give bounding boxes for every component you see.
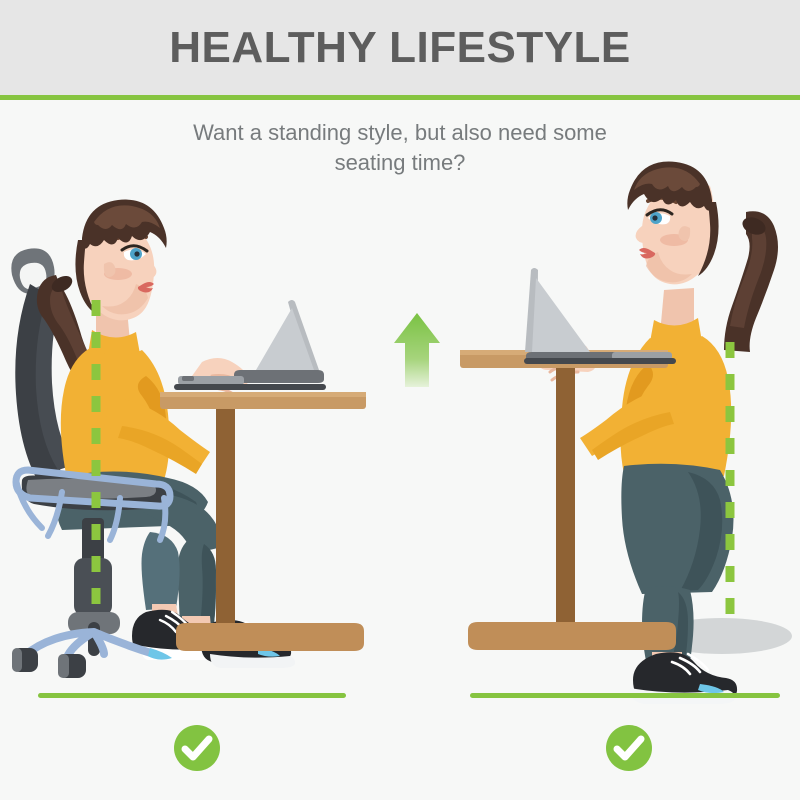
nose: [147, 262, 156, 279]
standing-desk: [460, 350, 680, 660]
seated-desk: [160, 380, 380, 660]
subtitle-line-2: seating time?: [335, 150, 466, 175]
right-panel-rule: [470, 693, 780, 698]
chair-caster-mid: [58, 654, 86, 678]
check-icon: [606, 725, 652, 771]
height-adjust-gauge: [360, 295, 450, 515]
desk-foot: [468, 622, 676, 650]
check-icon: [174, 725, 220, 771]
eye-pupil: [134, 251, 139, 256]
seated-laptop: [170, 298, 350, 398]
eye-pupil: [652, 215, 657, 220]
desk-leg: [556, 368, 575, 630]
nose: [636, 226, 645, 243]
subtitle-line-1: Want a standing style, but also need som…: [193, 120, 607, 145]
laptop-keyboard: [234, 370, 324, 383]
header-divider-rule: [0, 95, 800, 100]
chair-caster-left: [12, 648, 38, 672]
left-panel-rule: [38, 693, 346, 698]
left-panel-check-badge: [174, 725, 220, 771]
desk-leg: [216, 409, 235, 631]
ruler-ticks: [372, 299, 392, 497]
laptop-base: [524, 358, 676, 364]
up-arrow-icon: [394, 313, 440, 387]
right-panel-check-badge: [606, 725, 652, 771]
standing-laptop: [520, 268, 690, 364]
laptop-base: [174, 384, 326, 390]
page-title: HEALTHY LIFESTYLE: [0, 20, 800, 76]
infographic-canvas: HEALTHY LIFESTYLE Want a standing style,…: [0, 0, 800, 800]
laptop-trackpad: [182, 376, 194, 381]
desk-foot: [176, 623, 364, 651]
laptop-screen: [532, 278, 590, 352]
